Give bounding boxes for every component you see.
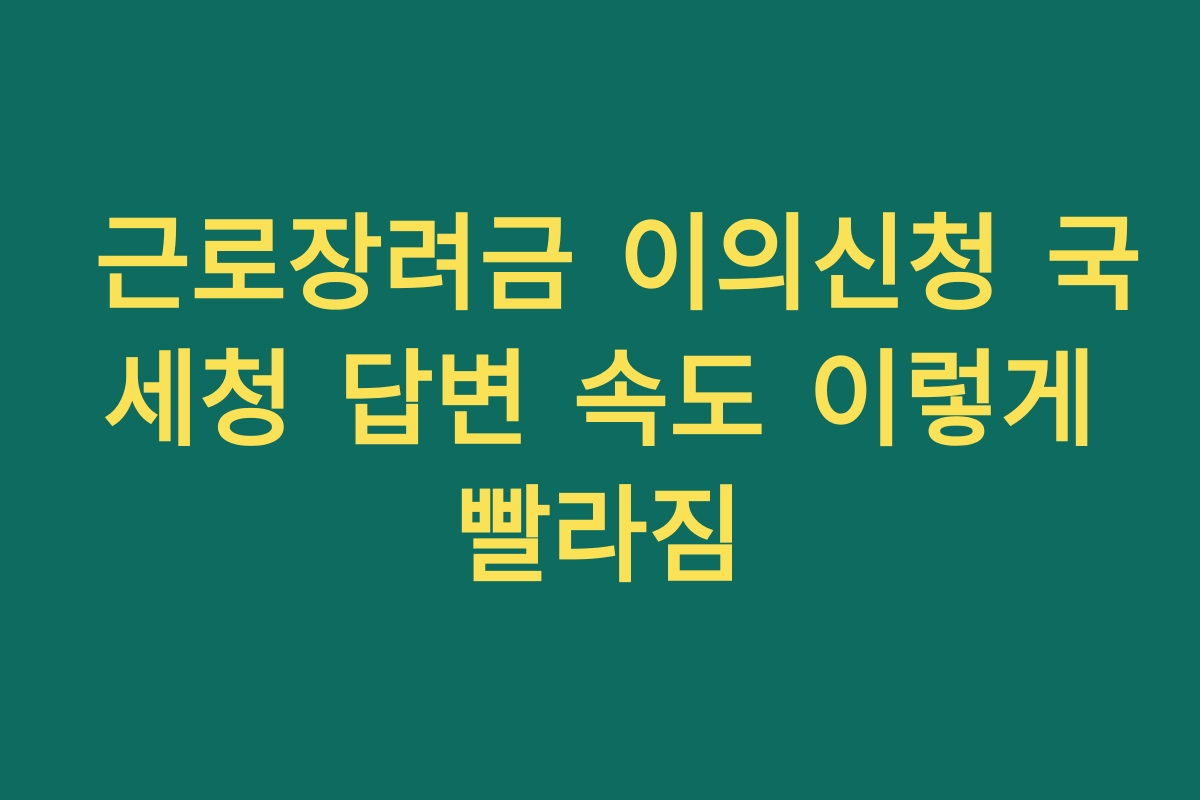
headline-line-1: 근로장려금 이의신청 국 [95, 196, 1105, 332]
headline-line-2: 세청 답변 속도 이렇게 [95, 332, 1105, 468]
headline-line-3: 빨라짐 [95, 468, 1105, 604]
banner-canvas: 근로장려금 이의신청 국 세청 답변 속도 이렇게 빨라짐 [0, 0, 1200, 800]
headline-text: 근로장려금 이의신청 국 세청 답변 속도 이렇게 빨라짐 [95, 196, 1105, 604]
